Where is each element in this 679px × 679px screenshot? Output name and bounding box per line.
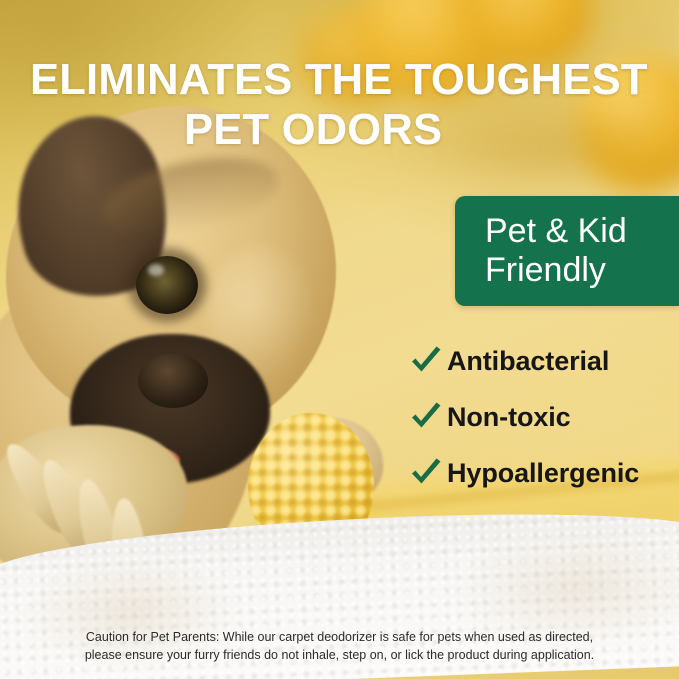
feature-item-hypoallergenic: Hypoallergenic xyxy=(405,448,679,498)
product-banner: ELIMINATES THE TOUGHEST PET ODORS Pet & … xyxy=(0,0,679,679)
feature-label: Hypoallergenic xyxy=(447,458,639,489)
dog-eye xyxy=(136,256,198,314)
feature-list: Antibacterial Non-toxic Hypoallergenic xyxy=(405,336,679,504)
badge-label: Pet & Kid Friendly xyxy=(485,212,627,290)
headline-line-1: ELIMINATES THE TOUGHEST xyxy=(30,55,649,105)
dog-nose xyxy=(138,354,208,408)
headline: ELIMINATES THE TOUGHEST PET ODORS xyxy=(30,55,649,155)
feature-item-antibacterial: Antibacterial xyxy=(405,336,679,386)
headline-line-2: PET ODORS xyxy=(30,105,596,155)
caution-text: Caution for Pet Parents: While our carpe… xyxy=(0,628,679,664)
feature-item-non-toxic: Non-toxic xyxy=(405,392,679,442)
caution-line-1: Caution for Pet Parents: While our carpe… xyxy=(0,628,679,646)
check-icon xyxy=(405,396,447,438)
caution-line-2: please ensure your furry friends do not … xyxy=(0,646,679,664)
feature-label: Non-toxic xyxy=(447,402,571,433)
feature-label: Antibacterial xyxy=(447,346,609,377)
check-icon xyxy=(405,340,447,382)
check-icon xyxy=(405,452,447,494)
pet-kid-friendly-badge: Pet & Kid Friendly xyxy=(455,196,679,306)
